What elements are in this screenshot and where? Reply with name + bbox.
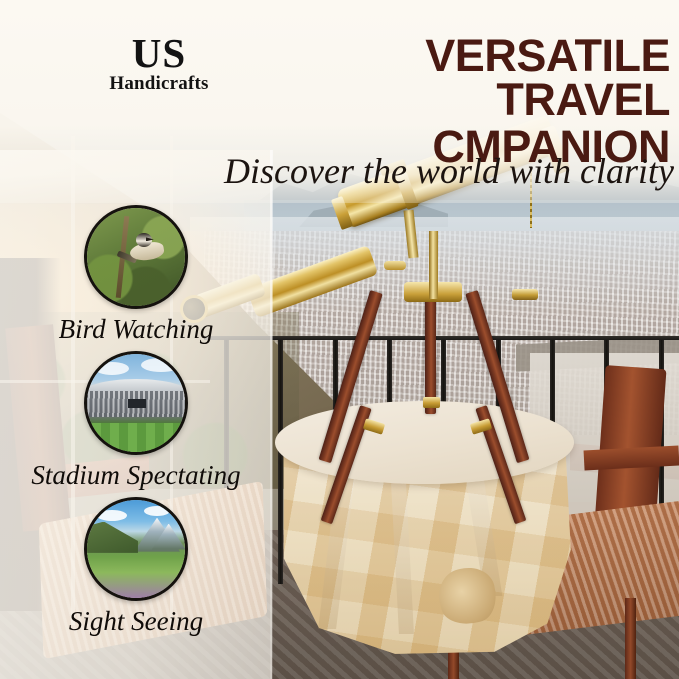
feature-thumbnail-stadium (84, 351, 188, 455)
ridge-left (84, 522, 138, 553)
feature-list: Bird Watching Stadium Spectating (0, 205, 272, 643)
stadium-screen (128, 399, 146, 408)
tripod-brass-fitting (423, 397, 440, 408)
feature-thumbnail-valley (84, 497, 188, 601)
brand-tagline: Handicrafts (79, 74, 239, 95)
feature-label: Stadium Spectating (0, 462, 272, 489)
table-with-cloth (275, 401, 574, 679)
cloud (141, 358, 181, 372)
bird-photo (87, 208, 185, 306)
feature-thumbnail-bird (84, 205, 188, 309)
tripod-post (429, 231, 438, 299)
headline-line-1: VERSATILE TRAVEL (258, 34, 670, 122)
headline: VERSATILE TRAVEL CMPANION (258, 34, 670, 169)
feature-sight-seeing: Sight Seeing (0, 497, 272, 635)
stadium-photo (87, 354, 185, 452)
subtitle: Discover the world with clarity (120, 152, 674, 192)
feature-label: Bird Watching (0, 316, 272, 343)
brand-name: US (79, 33, 239, 73)
cloud (144, 506, 170, 516)
cloud (95, 362, 129, 375)
cloud (97, 510, 127, 521)
feature-stadium-spectating: Stadium Spectating (0, 351, 272, 489)
chair-leg (625, 598, 636, 679)
feature-label: Sight Seeing (0, 608, 272, 635)
valley-photo (87, 500, 185, 598)
brand-logo: US Handicrafts (79, 33, 239, 95)
tripod-adjust-knob (384, 261, 406, 270)
lens-cap (512, 289, 538, 300)
stadium-pitch (84, 423, 188, 452)
product-marketing-image: US Handicrafts VERSATILE TRAVEL CMPANION… (0, 0, 679, 679)
feature-bird-watching: Bird Watching (0, 205, 272, 343)
